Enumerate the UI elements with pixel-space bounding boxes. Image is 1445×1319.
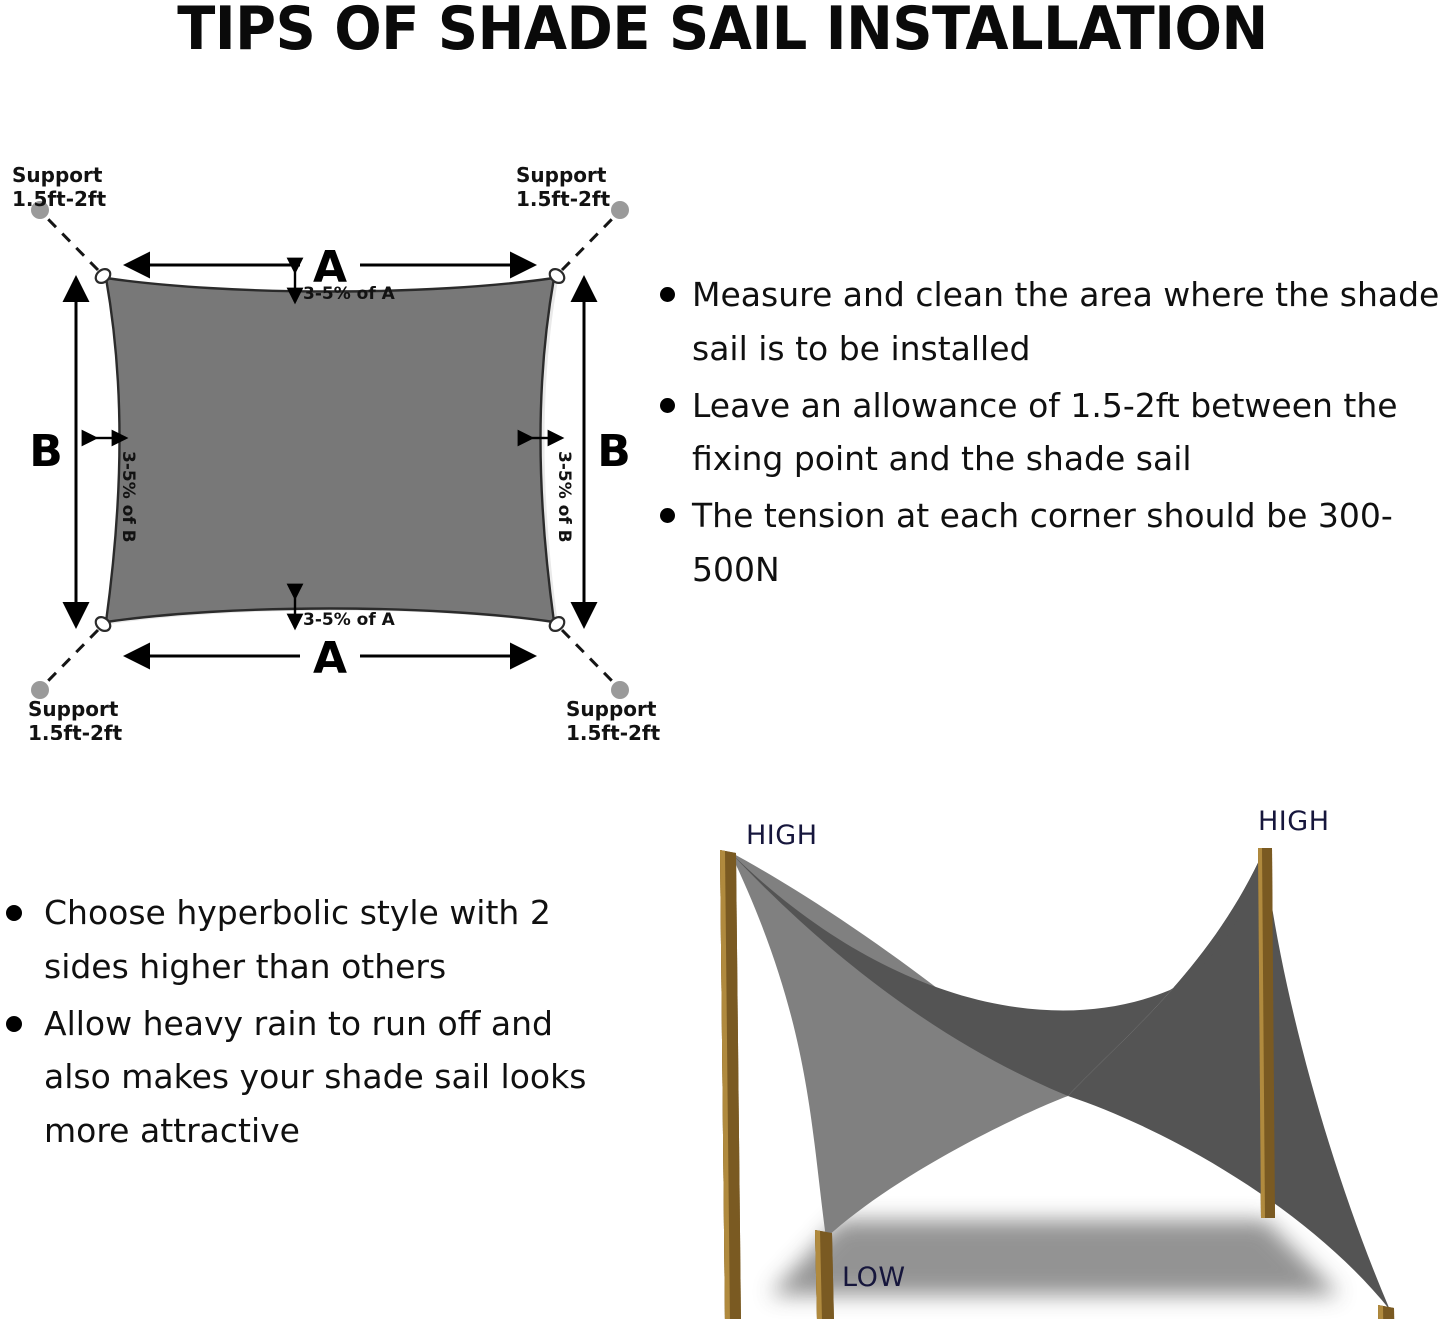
curve-depth-left-label: 3-5% of B [118,451,138,543]
curve-depth-right-label: 3-5% of B [554,451,574,543]
sail-shape [106,278,554,622]
list-item: Leave an allowance of 1.5-2ft between th… [648,379,1445,487]
hyperbolic-sail-illustration: HIGH HIGH LOW LOW [650,790,1445,1319]
support-label-bottom-left: Support 1.5ft-2ft [28,697,123,740]
dimension-a-bottom-label: A [313,633,347,684]
list-item: Choose hyperbolic style with 2 sides hig… [0,886,625,994]
support-label-line1: Support [516,163,607,187]
support-label-line1: Support [28,697,119,721]
list-item: Measure and clean the area where the sha… [648,268,1445,376]
support-label-line1: Support [566,697,657,721]
support-label-bottom-right: Support 1.5ft-2ft [566,697,660,740]
support-label-line2: 1.5ft-2ft [28,721,123,740]
page-title: TIPS OF SHADE SAIL INSTALLATION [51,0,1395,64]
support-label-line2: 1.5ft-2ft [12,187,107,211]
label-high-right: HIGH [1258,806,1330,837]
rectangular-sail-diagram: Support 1.5ft-2ft Support 1.5ft-2ft Supp… [0,160,660,740]
support-label-line2: 1.5ft-2ft [566,721,660,740]
support-label-line1: Support [12,163,103,187]
support-label-top-right: Support 1.5ft-2ft [516,163,611,211]
dimension-b-right-label: B [597,426,631,477]
support-label-top-left: Support 1.5ft-2ft [12,163,107,211]
label-high-left: HIGH [746,820,818,851]
list-item: The tension at each corner should be 300… [648,489,1445,597]
label-low-left: LOW [842,1262,906,1293]
installation-tips-list: Measure and clean the area where the sha… [648,268,1445,600]
support-label-line2: 1.5ft-2ft [516,187,611,211]
dimension-b-left-label: B [29,426,63,477]
list-item: Allow heavy rain to run off and also mak… [0,997,625,1158]
curve-depth-bottom-label: 3-5% of A [303,610,396,630]
curve-depth-top-label: 3-5% of A [303,284,396,304]
hyperbolic-tips-list: Choose hyperbolic style with 2 sides hig… [0,886,625,1161]
